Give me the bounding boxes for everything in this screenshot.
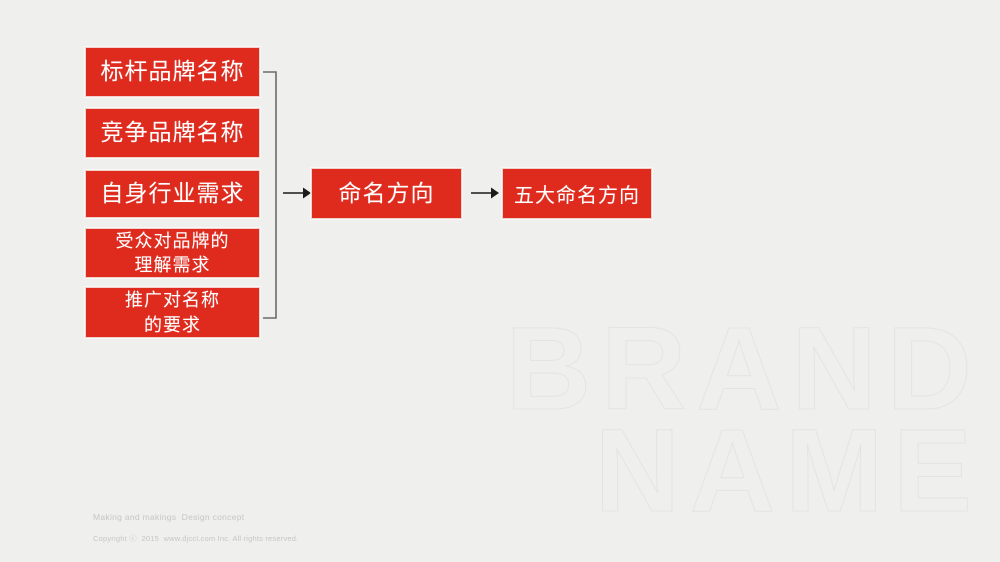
input-box-promotion-requirement[interactable]: 推广对名称 的要求 <box>85 287 260 338</box>
arrow-naming-direction-to-output <box>471 188 499 199</box>
input-box-own-industry-demand[interactable]: 自身行业需求 <box>85 170 260 218</box>
watermark-line-brand: BRAND <box>506 319 982 420</box>
output-box-label: 五大命名方向 <box>514 179 640 208</box>
input-box-label: 推广对名称 的要求 <box>125 288 220 337</box>
output-box-five-naming-directions[interactable]: 五大命名方向 <box>502 168 652 219</box>
process-box-naming-direction[interactable]: 命名方向 <box>311 168 462 219</box>
process-box-label: 命名方向 <box>339 180 435 208</box>
brand-name-watermark: BRAND NAME <box>506 319 982 522</box>
footer: Making and makings Design concept Copyri… <box>93 512 298 544</box>
input-box-label: 标杆品牌名称 <box>101 58 245 86</box>
footer-copyright: Copyright ⓒ 2015 www.djccl.com Inc. All … <box>93 533 298 544</box>
watermark-line-name: NAME <box>506 421 982 522</box>
arrow-inputs-to-naming-direction <box>283 188 311 199</box>
input-box-benchmark-brand-name[interactable]: 标杆品牌名称 <box>85 47 260 97</box>
input-box-competitor-brand-name[interactable]: 竞争品牌名称 <box>85 108 260 158</box>
input-box-label: 受众对品牌的 理解需求 <box>116 229 230 278</box>
footer-tagline: Making and makings Design concept <box>93 512 298 522</box>
input-group-bracket <box>263 72 276 318</box>
input-box-label: 自身行业需求 <box>101 180 245 208</box>
slide-canvas: BRAND NAME 标杆品牌名称 竞争品牌名称 自身行业需求 受众对品牌的 理… <box>0 0 1000 562</box>
input-box-audience-understanding[interactable]: 受众对品牌的 理解需求 <box>85 228 260 278</box>
input-box-label: 竞争品牌名称 <box>101 119 245 147</box>
